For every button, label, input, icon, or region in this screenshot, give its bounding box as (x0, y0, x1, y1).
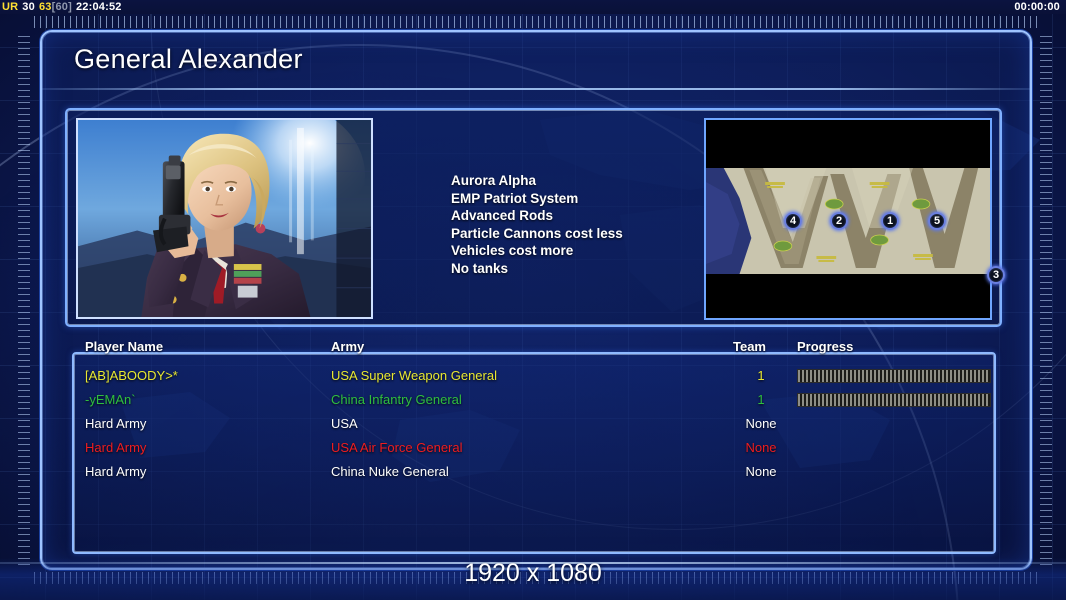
player-progress-cell (797, 388, 991, 402)
player-team-cell: 1 (733, 364, 789, 388)
map-terrain (706, 168, 990, 274)
column-header-army: Army (331, 339, 364, 354)
frame-ruler-right (1040, 36, 1052, 566)
portrait-artwork (78, 120, 371, 318)
player-list-headers: Player Name Army Team Progress (85, 339, 996, 357)
map-start-position[interactable]: 4 (784, 212, 802, 230)
player-team-cell: 1 (733, 388, 789, 412)
status-timer: 00:00:00 (1014, 0, 1060, 14)
frame-ruler-left (18, 36, 30, 566)
ability-line: Vehicles cost more (451, 242, 623, 260)
ability-line: Particle Cannons cost less (451, 225, 623, 243)
status-bar: UR3063[60]22:04:52 00:00:00 (0, 0, 1066, 14)
table-row[interactable]: Hard ArmyChina Nuke GeneralNone (85, 460, 998, 484)
player-army-cell: USA Air Force General (331, 436, 463, 460)
status-value2-bracket: [60] (52, 1, 72, 13)
frame-ruler-top (34, 16, 1038, 28)
status-label-ur: UR (2, 1, 18, 13)
page-title: General Alexander (74, 44, 303, 75)
map-start-position-label: 4 (790, 215, 796, 227)
ability-line: Advanced Rods (451, 207, 623, 225)
resolution-label: 1920 x 1080 (0, 559, 1066, 588)
progress-bar (797, 393, 991, 407)
player-army-cell: China Nuke General (331, 460, 449, 484)
game-screen: UR3063[60]22:04:52 00:00:00 General Alex… (0, 0, 1066, 600)
map-preview[interactable]: 4 2 1 5 3 (704, 118, 992, 320)
player-team-cell: None (733, 436, 789, 460)
column-header-progress: Progress (797, 339, 853, 354)
player-army-cell: USA (331, 412, 358, 436)
player-name-cell: [AB]ABOODY>* (85, 364, 178, 388)
status-fps: 30 (22, 1, 35, 13)
map-start-position-label: 1 (887, 215, 893, 227)
table-row[interactable]: -yEMAn`China Infantry General1 (85, 388, 998, 412)
table-row[interactable]: Hard ArmyUSANone (85, 412, 998, 436)
map-start-position[interactable]: 2 (830, 212, 848, 230)
table-row[interactable]: [AB]ABOODY>*USA Super Weapon General1 (85, 364, 998, 388)
player-list-rows: [AB]ABOODY>*USA Super Weapon General1-yE… (85, 364, 998, 484)
map-start-position[interactable]: 5 (928, 212, 946, 230)
title-band: General Alexander (42, 32, 1030, 90)
player-name-cell: Hard Army (85, 412, 146, 436)
general-abilities-list: Aurora Alpha EMP Patriot System Advanced… (451, 172, 623, 278)
player-progress-cell (797, 364, 991, 378)
player-team-cell: None (733, 460, 789, 484)
map-start-position-label: 5 (934, 215, 940, 227)
map-start-position[interactable]: 3 (987, 266, 1005, 284)
column-header-player-name: Player Name (85, 339, 163, 354)
player-army-cell: China Infantry General (331, 388, 462, 412)
progress-bar-fill (798, 370, 990, 382)
player-name-cell: Hard Army (85, 460, 146, 484)
map-preview-inner (706, 120, 990, 318)
general-info-panel: Aurora Alpha EMP Patriot System Advanced… (65, 108, 1002, 327)
map-start-position[interactable]: 1 (881, 212, 899, 230)
ability-line: EMP Patriot System (451, 190, 623, 208)
column-header-team: Team (733, 339, 766, 354)
player-name-cell: Hard Army (85, 436, 146, 460)
ability-line: No tanks (451, 260, 623, 278)
status-value2: 63 (39, 1, 52, 13)
map-start-position-label: 3 (993, 269, 999, 281)
player-team-cell: None (733, 412, 789, 436)
table-row[interactable]: Hard ArmyUSA Air Force GeneralNone (85, 436, 998, 460)
progress-bar (797, 369, 991, 383)
progress-bar-fill (798, 394, 990, 406)
status-bar-left: UR3063[60]22:04:52 (2, 0, 122, 14)
ability-line: Aurora Alpha (451, 172, 623, 190)
status-clock: 22:04:52 (76, 1, 122, 13)
map-start-position-label: 2 (836, 215, 842, 227)
player-name-cell: -yEMAn` (85, 388, 136, 412)
general-portrait (76, 118, 373, 319)
player-army-cell: USA Super Weapon General (331, 364, 497, 388)
